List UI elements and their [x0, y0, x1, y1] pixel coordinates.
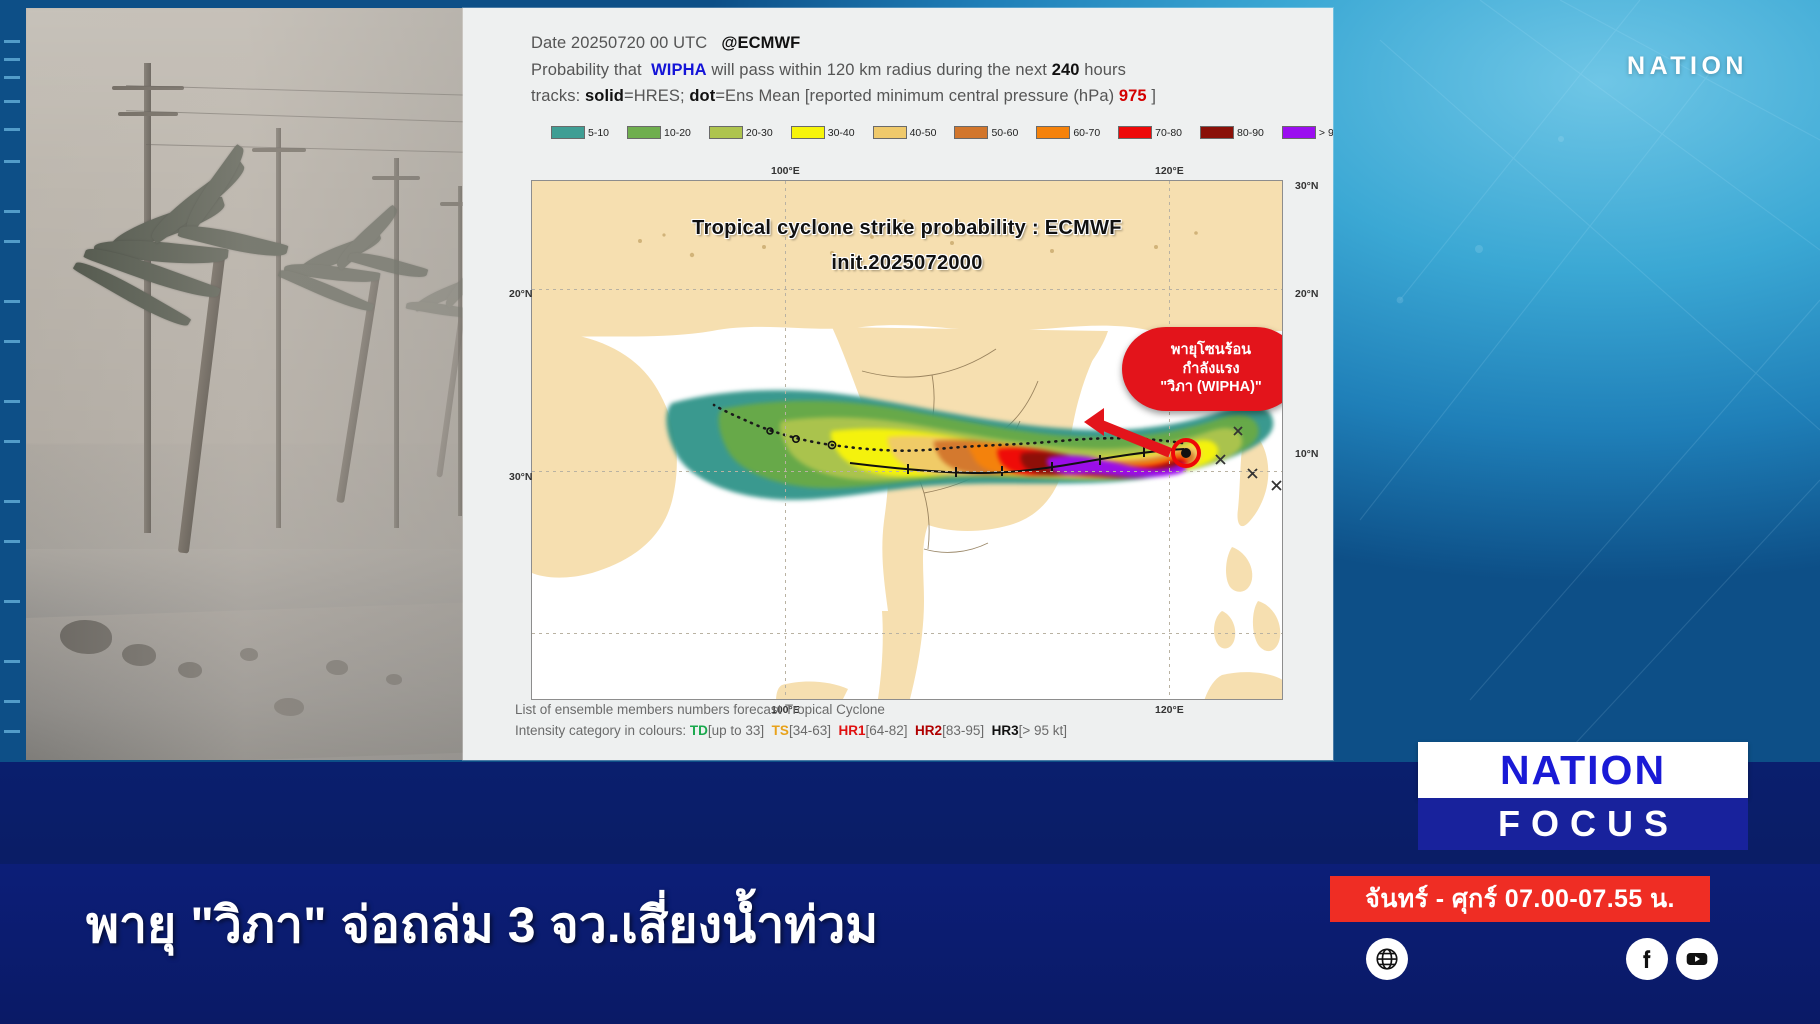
legend-item: 60-70	[1036, 126, 1100, 139]
storm-center-dot	[1181, 448, 1191, 458]
footer-line1: List of ensemble members numbers forecas…	[515, 700, 1067, 721]
ytick-right-10N: 10°N	[1295, 448, 1318, 460]
storm-callout: พายุโซนร้อน กำลังแรง "วิภา (WIPHA)"	[1122, 327, 1283, 411]
header-source: @ECMWF	[721, 34, 800, 52]
legend-item: 80-90	[1200, 126, 1264, 139]
legend-item: 5-10	[551, 126, 609, 139]
ytick-left-30N: 30°N	[509, 471, 532, 483]
legend-item: 20-30	[709, 126, 773, 139]
header-line-2: Probability that WIPHA will pass within …	[531, 57, 1333, 84]
legend-label: 30-40	[828, 127, 855, 139]
header-hours: 240	[1052, 61, 1080, 79]
nation-watermark: NATION	[1627, 52, 1748, 81]
facebook-icon[interactable]	[1626, 938, 1668, 980]
ytick-right-30N: 30°N	[1295, 180, 1318, 192]
nation-focus-logo: NATION FOCUS	[1418, 742, 1748, 850]
header-pressure: 975	[1119, 87, 1147, 105]
callout-arrow-head	[1084, 408, 1104, 436]
header-line-1: Date 20250720 00 UTC @ECMWF	[531, 30, 1333, 57]
cat-hr1: HR1	[838, 723, 865, 738]
legend-item: 10-20	[627, 126, 691, 139]
xtick-top-120E: 120°E	[1155, 165, 1184, 177]
ytick-right-20N: 20°N	[1295, 288, 1318, 300]
logo-focus-text: FOCUS	[1487, 803, 1679, 845]
schedule-badge: จันทร์ - ศุกร์ 07.00-07.55 น.	[1330, 876, 1710, 922]
ticker-headline: พายุ "วิภา" จ่อถล่ม 3 จว.เสี่ยงน้ำท่วม	[86, 886, 878, 965]
callout-line1: พายุโซนร้อน	[1171, 341, 1251, 360]
gridline-100E	[785, 181, 786, 699]
legend-label: 10-20	[664, 127, 691, 139]
legend-label: 80-90	[1237, 127, 1264, 139]
legend-label: 70-80	[1155, 127, 1182, 139]
header-line-3: tracks: solid=HRES; dot=Ens Mean [report…	[531, 83, 1333, 110]
footer-line2: Intensity category in colours: TD[up to …	[515, 721, 1067, 742]
map-footer: List of ensemble members numbers forecas…	[515, 700, 1067, 742]
cat-hr3: HR3	[992, 723, 1019, 738]
legend-swatch	[954, 126, 988, 139]
legend-item: 30-40	[791, 126, 855, 139]
xtick-top-100E: 100°E	[771, 165, 800, 177]
legend-label: 40-50	[910, 127, 937, 139]
legend-swatch	[551, 126, 585, 139]
legend-swatch	[1036, 126, 1070, 139]
tech-edge-decoration	[0, 0, 26, 766]
legend-label: > 90%	[1319, 127, 1333, 139]
gridline-30N	[532, 289, 1282, 290]
social-links	[1366, 938, 1718, 980]
legend-swatch	[1118, 126, 1152, 139]
legend-item: 50-60	[954, 126, 1018, 139]
callout-line2: กำลังแรง	[1182, 360, 1239, 379]
legend-swatch	[873, 126, 907, 139]
map-header-text: Date 20250720 00 UTC @ECMWF Probability …	[463, 8, 1333, 110]
legend-item: 70-80	[1118, 126, 1182, 139]
gridline-20N	[532, 471, 1282, 472]
storm-photo	[26, 8, 481, 760]
globe-icon[interactable]	[1366, 938, 1408, 980]
legend-swatch	[1282, 126, 1316, 139]
news-ticker-bar: พายุ "วิภา" จ่อถล่ม 3 จว.เสี่ยงน้ำท่วม จ…	[0, 864, 1820, 1024]
logo-nation-band: NATION	[1418, 742, 1748, 798]
ytick-left-20N: 20°N	[509, 288, 532, 300]
map-canvas: Tropical cyclone strike probability : EC…	[531, 180, 1283, 700]
header-storm-name: WIPHA	[651, 61, 707, 79]
legend-item: 40-50	[873, 126, 937, 139]
legend-label: 20-30	[746, 127, 773, 139]
xtick-bottom-120E: 120°E	[1155, 704, 1184, 716]
cat-ts: TS	[772, 723, 789, 738]
gridline-10N	[532, 633, 1282, 634]
legend-label: 60-70	[1073, 127, 1100, 139]
cat-td: TD	[690, 723, 708, 738]
legend-swatch	[709, 126, 743, 139]
legend-swatch	[627, 126, 661, 139]
broadcast-screen: Date 20250720 00 UTC @ECMWF Probability …	[0, 0, 1820, 1024]
gridline-120E	[1169, 181, 1170, 699]
cat-hr2: HR2	[915, 723, 942, 738]
legend-item: > 90%	[1282, 126, 1333, 139]
schedule-text: จันทร์ - ศุกร์ 07.00-07.55 น.	[1365, 879, 1675, 919]
legend-label: 50-60	[991, 127, 1018, 139]
logo-nation-text: NATION	[1500, 747, 1666, 794]
header-date: Date 20250720 00 UTC	[531, 34, 707, 52]
ecmwf-map-panel: Date 20250720 00 UTC @ECMWF Probability …	[463, 8, 1333, 760]
logo-focus-band: FOCUS	[1418, 798, 1748, 850]
cyclone-tracks	[532, 181, 1283, 700]
legend-swatch	[1200, 126, 1234, 139]
legend-swatch	[791, 126, 825, 139]
youtube-icon[interactable]	[1676, 938, 1718, 980]
probability-legend: 5-1010-2020-3030-4040-5050-6060-7070-808…	[551, 126, 1333, 139]
callout-line3: "วิภา (WIPHA)"	[1160, 378, 1262, 397]
legend-label: 5-10	[588, 127, 609, 139]
